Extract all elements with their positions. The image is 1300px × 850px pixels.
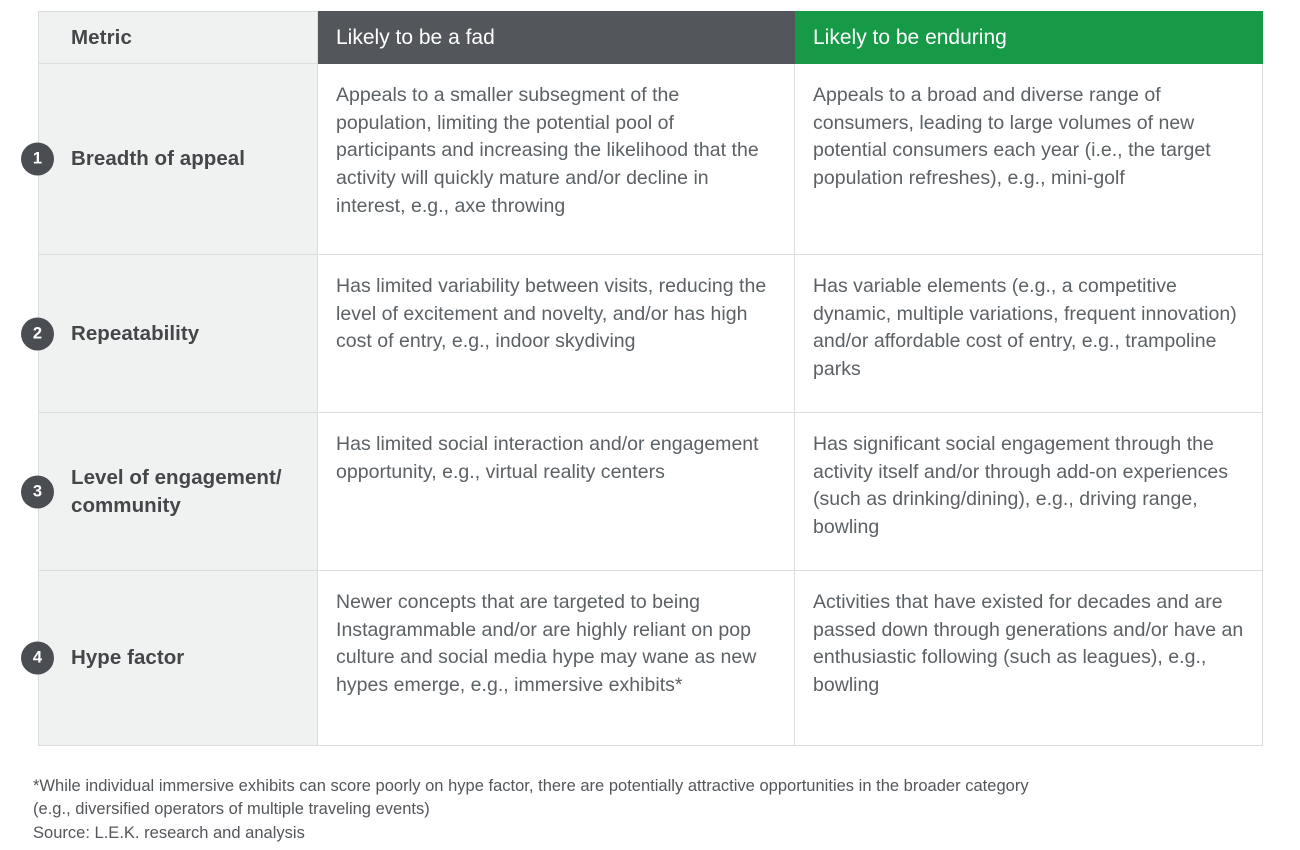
table-body: 1 Breadth of appeal Appeals to a smaller… — [39, 64, 1263, 746]
fad-vs-enduring-matrix-table: Metric Likely to be a fad Likely to be e… — [38, 11, 1263, 746]
source-text: Source: L.E.K. research and analysis — [33, 822, 1273, 845]
enduring-cell: Activities that have existed for decades… — [795, 571, 1263, 746]
enduring-cell: Has significant social engagement throug… — [795, 413, 1263, 571]
fad-description: Appeals to a smaller subsegment of the p… — [336, 84, 759, 217]
table-header: Metric Likely to be a fad Likely to be e… — [39, 12, 1263, 64]
column-header-likely-to-be-enduring: Likely to be enduring — [795, 12, 1263, 64]
fad-description: Has limited variability between visits, … — [336, 275, 766, 352]
fad-cell: Has limited social interaction and/or en… — [318, 413, 795, 571]
row-number-badge: 1 — [21, 143, 54, 176]
enduring-description: Has variable elements (e.g., a competiti… — [813, 275, 1237, 380]
metric-label: Breadth of appeal — [39, 135, 317, 182]
fad-cell: Newer concepts that are targeted to bein… — [318, 571, 795, 746]
column-header-likely-to-be-a-fad: Likely to be a fad — [318, 12, 795, 64]
metric-cell: 1 Breadth of appeal — [39, 64, 318, 255]
enduring-cell: Has variable elements (e.g., a competiti… — [795, 255, 1263, 413]
table-row: 4 Hype factor Newer concepts that are ta… — [39, 571, 1263, 746]
chart-page: Metric Likely to be a fad Likely to be e… — [0, 0, 1300, 850]
column-header-metric: Metric — [39, 12, 318, 64]
metric-label: Hype factor — [39, 634, 317, 681]
metric-cell: 4 Hype factor — [39, 571, 318, 746]
enduring-description: Has significant social engagement throug… — [813, 433, 1228, 538]
metric-cell: 3 Level of engagement/ community — [39, 413, 318, 571]
row-number-badge: 3 — [21, 475, 54, 508]
fad-cell: Has limited variability between visits, … — [318, 255, 795, 413]
metric-cell: 2 Repeatability — [39, 255, 318, 413]
footnotes: *While individual immersive exhibits can… — [33, 775, 1273, 845]
enduring-cell: Appeals to a broad and diverse range of … — [795, 64, 1263, 255]
footnote-text: *While individual immersive exhibits can… — [33, 775, 1273, 822]
enduring-description: Activities that have existed for decades… — [813, 591, 1243, 696]
row-number-badge: 4 — [21, 642, 54, 675]
enduring-description: Appeals to a broad and diverse range of … — [813, 84, 1211, 189]
fad-description: Has limited social interaction and/or en… — [336, 433, 759, 483]
fad-description: Newer concepts that are targeted to bein… — [336, 591, 756, 696]
metric-label: Repeatability — [39, 310, 317, 357]
table-row: 3 Level of engagement/ community Has lim… — [39, 413, 1263, 571]
table-header-row: Metric Likely to be a fad Likely to be e… — [39, 12, 1263, 64]
row-number-badge: 2 — [21, 317, 54, 350]
table-row: 2 Repeatability Has limited variability … — [39, 255, 1263, 413]
table-row: 1 Breadth of appeal Appeals to a smaller… — [39, 64, 1263, 255]
fad-cell: Appeals to a smaller subsegment of the p… — [318, 64, 795, 255]
metric-label: Level of engagement/ community — [39, 454, 317, 528]
